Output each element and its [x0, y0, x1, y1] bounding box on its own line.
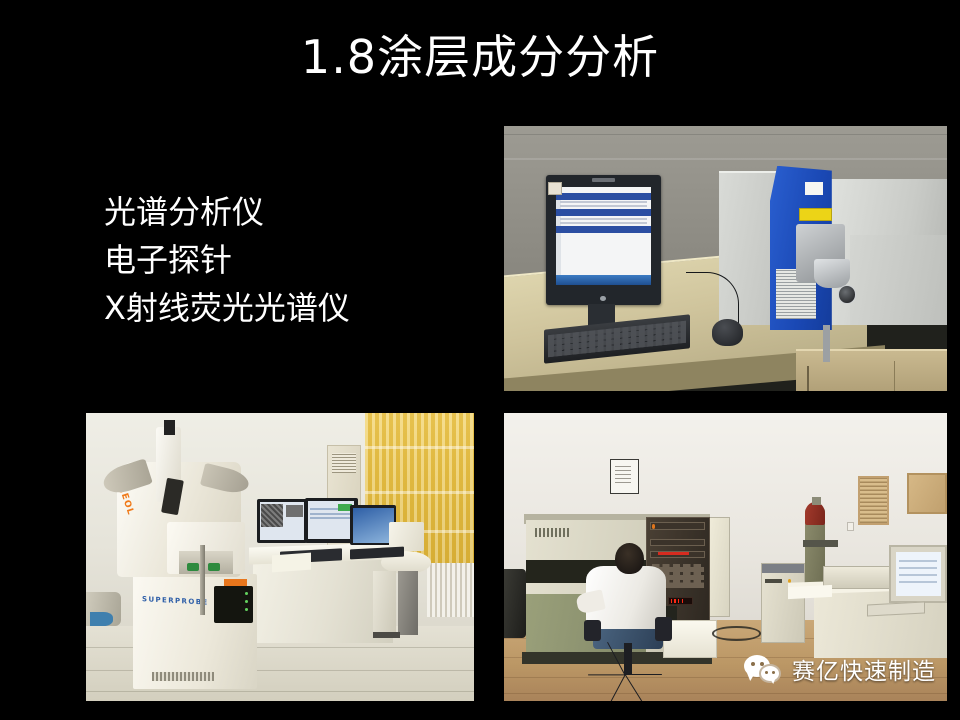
chair-armrest: [655, 617, 673, 640]
stage-indicator: [187, 563, 199, 572]
wall-panel: [907, 473, 947, 513]
software-ui: [353, 508, 394, 543]
instrument-pipe: [823, 325, 830, 362]
chair-armrest: [584, 620, 602, 640]
instrument-warning-label: [799, 208, 832, 221]
window-row: [310, 513, 351, 515]
gas-cylinder-cap: [805, 502, 825, 525]
gas-cylinder-valve: [812, 497, 821, 506]
monitor-brand-plate: [592, 178, 615, 182]
stage-rod: [200, 545, 205, 614]
wall-seam: [504, 158, 947, 160]
watermark: 赛亿快速制造: [744, 652, 936, 686]
monitor-left: [257, 499, 307, 542]
page-title: 1.8涂层成分分析: [0, 30, 960, 84]
sem-thumbnail: [286, 505, 303, 518]
monitor-right-screen: [353, 508, 394, 543]
monitor-power-led: [600, 296, 606, 301]
watermark-text: 赛亿快速制造: [792, 652, 936, 686]
panel-led-display: [668, 597, 693, 605]
sem-image: [261, 504, 283, 527]
monitor-sticker: [548, 182, 561, 195]
stage-indicator: [208, 563, 220, 572]
side-equipment-cabinet: [761, 563, 805, 644]
floor-cable: [712, 626, 761, 640]
crt-screen: [896, 552, 941, 596]
wechat-dot: [751, 662, 755, 666]
photo-spectrometer: [504, 126, 947, 391]
equipment-list: 光谱分析仪 电子探针 X射线荧光光谱仪: [104, 188, 484, 332]
electron-gun-cap: [164, 420, 176, 434]
crt-monitor: [889, 545, 947, 603]
screen-header-bar: [556, 209, 650, 216]
chair-base: [593, 666, 664, 683]
wechat-icon: [744, 654, 784, 684]
computer-tower-dark: [398, 571, 417, 634]
cabinet-label: [765, 579, 782, 583]
wall-notice-frame: [610, 459, 639, 494]
screen-row-line: [560, 218, 647, 220]
operator-head: [615, 543, 644, 575]
screen-row-line: [560, 205, 647, 207]
cabinet-grill: [332, 453, 355, 473]
wechat-dot: [765, 671, 768, 674]
floor-cabinet: [796, 349, 947, 391]
printout-paper: [788, 585, 832, 599]
orange-label: [224, 579, 247, 586]
curtain-seam: [365, 446, 474, 449]
microprobe-scene: SUPERPROBE JEOL: [86, 413, 474, 701]
mouse: [712, 319, 743, 346]
monitor-screen: [556, 187, 650, 286]
panel-display-strip: [650, 539, 705, 547]
monitor-left-screen: [260, 502, 304, 539]
window-row: [310, 517, 351, 519]
cabinet-open-door: [708, 517, 730, 618]
screen-row-line: [560, 222, 647, 224]
wechat-dot: [772, 671, 775, 674]
screen-header-bar: [556, 193, 650, 200]
list-item: 电子探针: [104, 236, 484, 284]
computer-tower: [373, 571, 396, 634]
wall-vent-louvered: [858, 476, 889, 525]
wechat-bubble-small: [759, 664, 781, 683]
panel-display-strip: [650, 522, 705, 530]
spectrometer-scene: [504, 126, 947, 391]
plotter: [823, 566, 898, 589]
photo-microprobe: SUPERPROBE JEOL: [86, 413, 474, 701]
machine-logo: [535, 528, 570, 537]
wall-seam: [504, 134, 947, 135]
screen-row-line: [560, 201, 647, 203]
screen-header-bar: [556, 226, 650, 233]
panel-red-readout: [658, 552, 689, 555]
gas-cylinder-strap: [803, 540, 838, 547]
instrument-white-label: [805, 182, 823, 195]
sample-holder: [814, 259, 849, 288]
blue-bin: [90, 612, 113, 626]
wechat-dot: [760, 662, 764, 666]
instrument-bottom-vent: [152, 672, 214, 681]
monitor: [546, 175, 661, 305]
cabinet-top: [762, 564, 804, 573]
screen-taskbar: [556, 275, 650, 286]
list-item: X射线荧光光谱仪: [104, 284, 484, 332]
monitor-center-screen: [308, 501, 354, 539]
cart-wheels: [373, 632, 400, 638]
list-item: 光谱分析仪: [104, 188, 484, 236]
curtain-seam: [365, 491, 474, 494]
radiator: [427, 563, 474, 618]
instrument-knob: [838, 285, 856, 304]
instrument-right-lower: [850, 235, 947, 325]
instrument-status-panel: [214, 586, 253, 623]
light-switch: [847, 522, 854, 531]
panel-indicator-lamp: [652, 524, 655, 528]
paper-stack: [272, 553, 311, 573]
floor-equipment-dark: [504, 569, 526, 638]
